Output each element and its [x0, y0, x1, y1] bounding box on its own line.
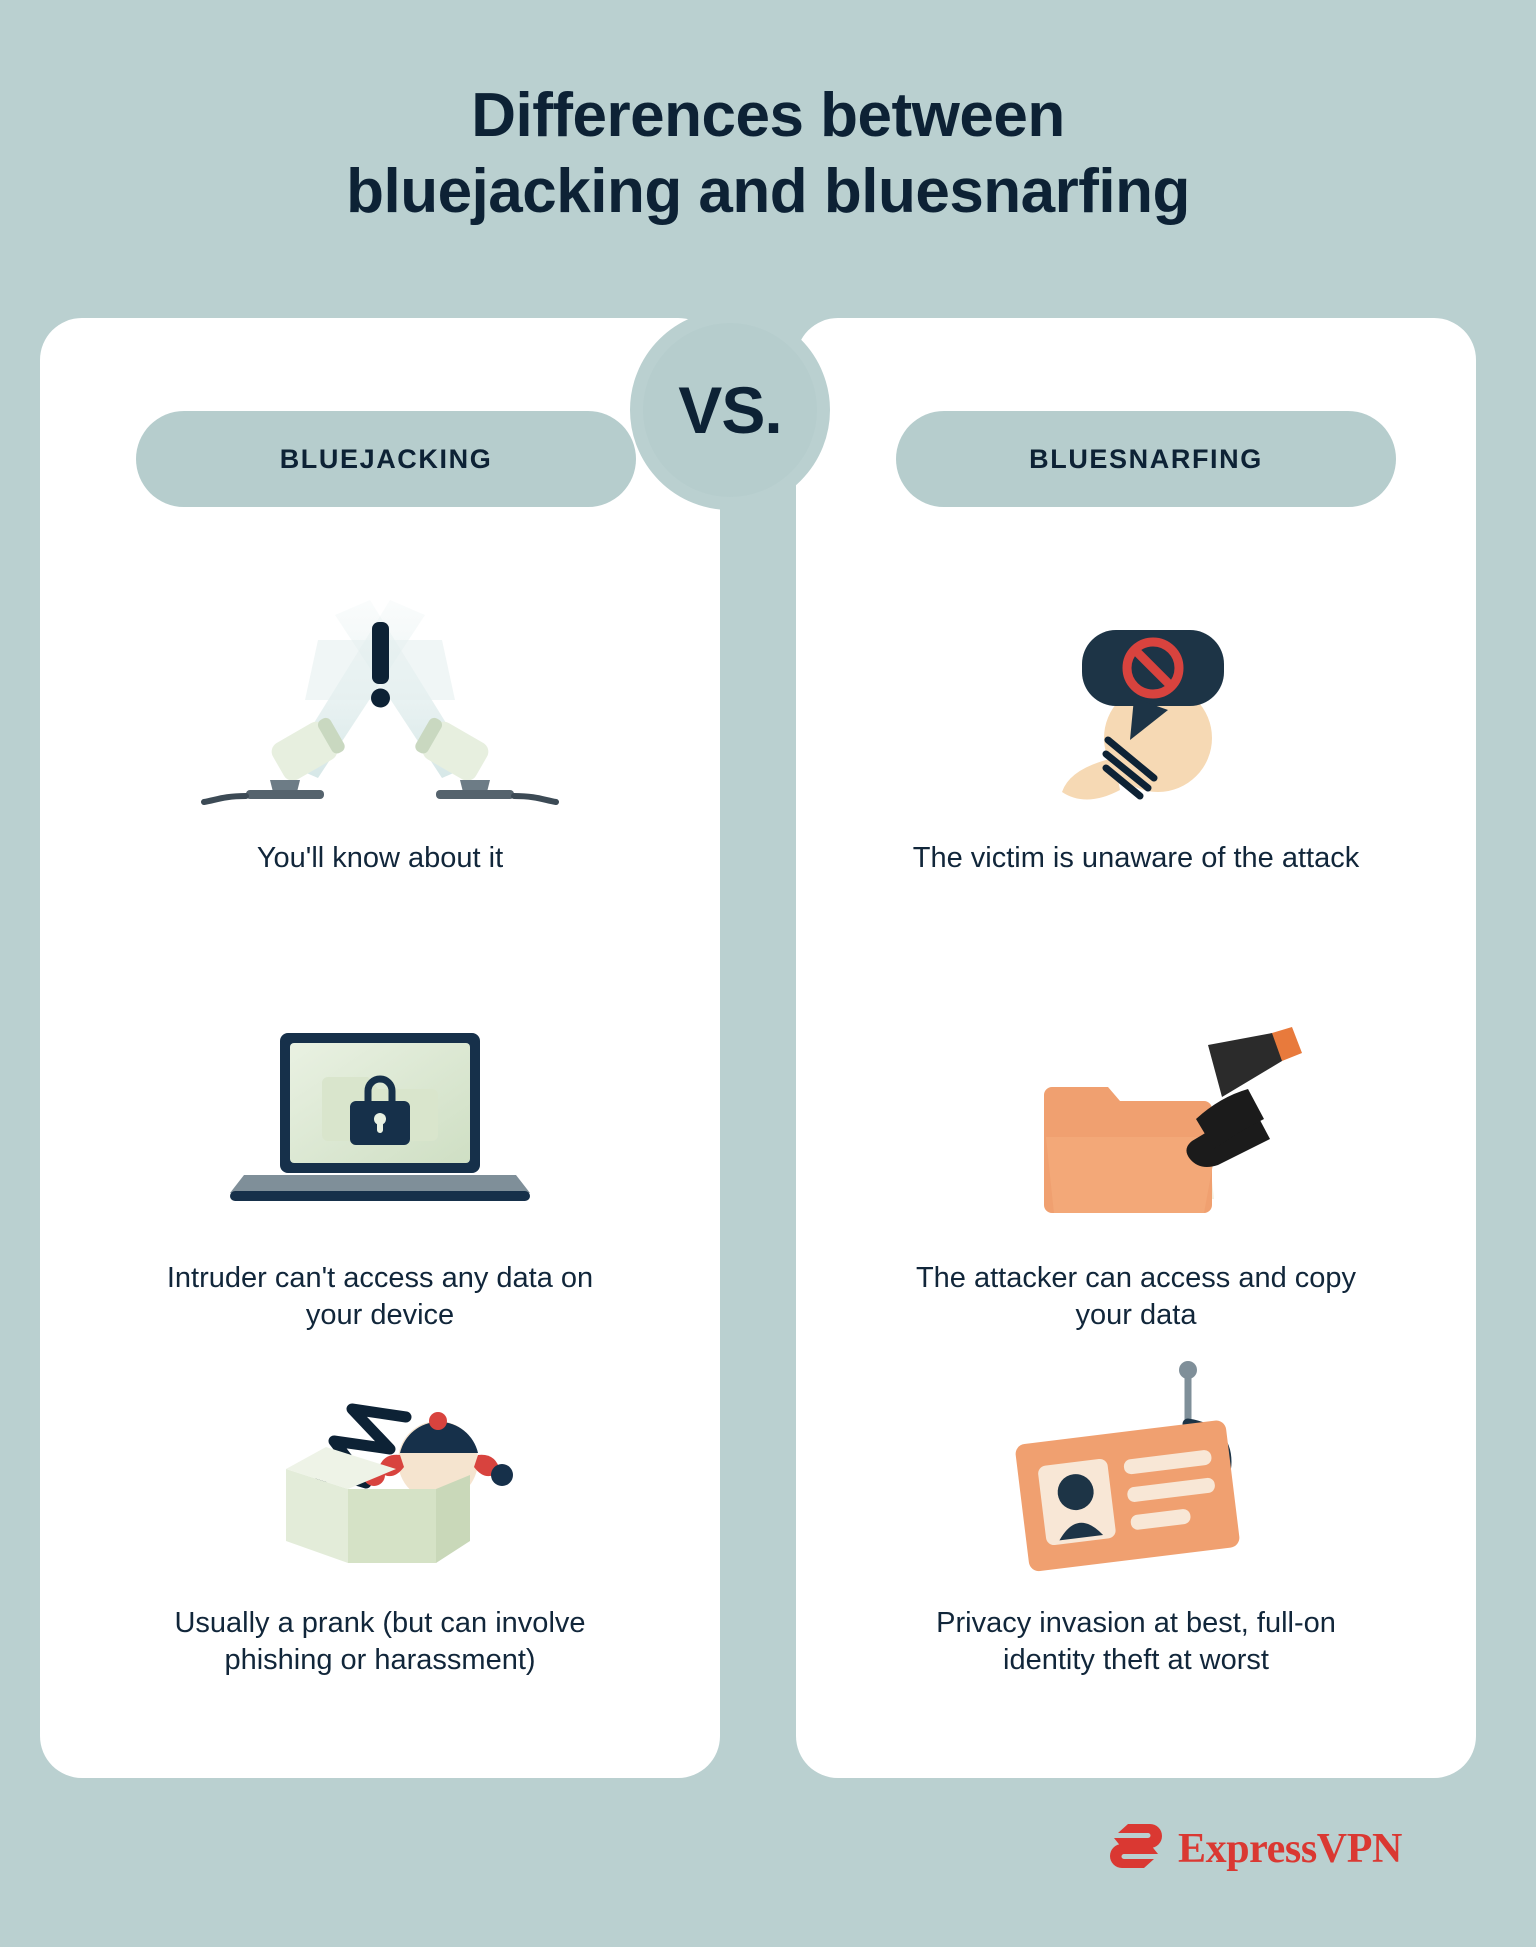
jack-in-the-box-icon — [200, 1345, 560, 1595]
lightbulb-blocked-speech-bubble-icon — [956, 580, 1316, 830]
id-card-phishing-hook-icon — [956, 1345, 1316, 1595]
vs-label: VS. — [678, 372, 781, 448]
caption-bluejacking-3: Usually a prank (but can involve phishin… — [145, 1605, 615, 1679]
laptop-locked-folder-icon — [200, 1000, 560, 1250]
row-bluesnarfing-2: The attacker can access and copy your da… — [856, 1000, 1416, 1334]
page-title-line-1: Differences between — [0, 78, 1536, 154]
expressvpn-wordmark: ExpressVPN — [1178, 1825, 1402, 1873]
crossed-spotlights-exclamation-icon — [200, 580, 560, 830]
badge-bluejacking-label: BLUEJACKING — [280, 444, 493, 475]
expressvpn-logo: ExpressVPN — [1108, 1820, 1402, 1877]
expressvpn-e-icon — [1108, 1820, 1164, 1877]
caption-bluejacking-1: You'll know about it — [257, 840, 503, 877]
badge-bluejacking: BLUEJACKING — [136, 411, 636, 507]
badge-bluesnarfing: BLUESNARFING — [896, 411, 1396, 507]
badge-bluesnarfing-label: BLUESNARFING — [1029, 444, 1263, 475]
page-title-line-2: bluejacking and bluesnarfing — [0, 154, 1536, 230]
row-bluesnarfing-3: Privacy invasion at best, full-on identi… — [856, 1345, 1416, 1679]
vs-circle: VS. — [630, 310, 830, 510]
row-bluejacking-2: Intruder can't access any data on your d… — [100, 1000, 660, 1334]
caption-bluesnarfing-2: The attacker can access and copy your da… — [901, 1260, 1371, 1334]
row-bluejacking-3: Usually a prank (but can involve phishin… — [100, 1345, 660, 1679]
caption-bluesnarfing-3: Privacy invasion at best, full-on identi… — [901, 1605, 1371, 1679]
infographic-page: Differences between bluejacking and blue… — [0, 0, 1536, 1947]
row-bluejacking-1: You'll know about it — [100, 580, 660, 877]
page-title: Differences between bluejacking and blue… — [0, 78, 1536, 229]
caption-bluesnarfing-1: The victim is unaware of the attack — [913, 840, 1359, 877]
hand-stealing-folder-icon — [956, 1000, 1316, 1250]
row-bluesnarfing-1: The victim is unaware of the attack — [856, 580, 1416, 877]
caption-bluejacking-2: Intruder can't access any data on your d… — [145, 1260, 615, 1334]
